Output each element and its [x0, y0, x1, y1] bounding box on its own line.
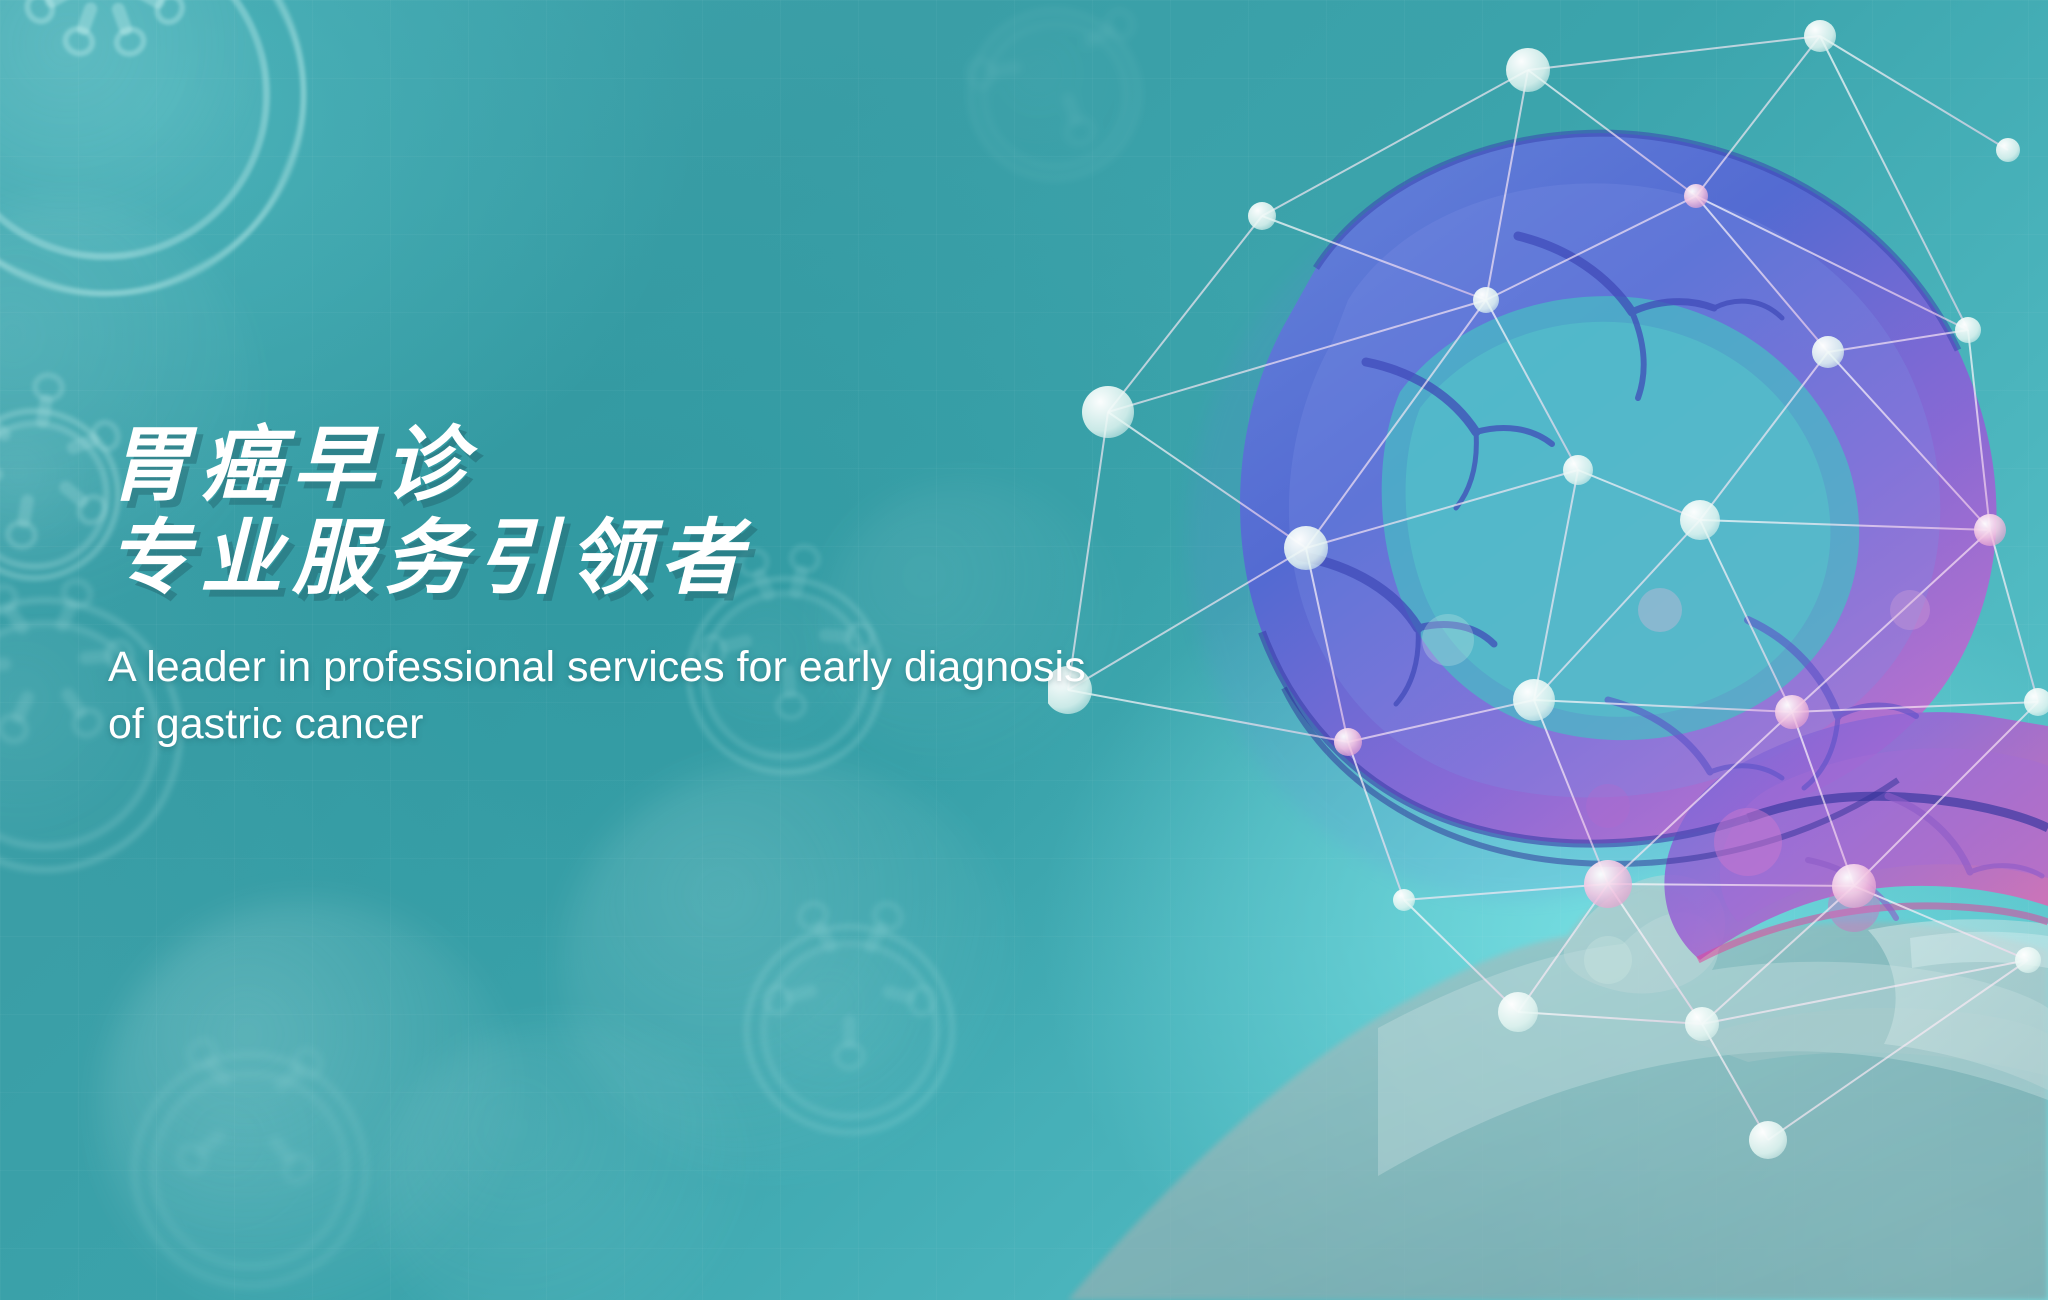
hand-illustration	[1068, 875, 2048, 1300]
subtitle-line-1: A leader in professional services for ea…	[108, 643, 892, 691]
bokeh-circle	[560, 760, 1020, 1180]
bokeh-circle	[100, 900, 520, 1300]
headline-line-2: 专业服务引领者	[108, 513, 1208, 606]
virus-watermark-icon	[0, 420, 110, 570]
virus-watermark-icon	[0, 0, 270, 260]
bokeh-circle	[380, 1020, 760, 1300]
virus-watermark-icon	[760, 940, 940, 1120]
page-subtitle: A leader in professional services for ea…	[108, 639, 1118, 753]
headline-line-1: 胃癌早诊	[108, 420, 476, 511]
copy-block: 胃癌早诊 专业服务引领者 A leader in professional se…	[108, 420, 1208, 753]
virus-watermark-icon	[150, 1070, 350, 1270]
hero-banner: 胃癌早诊 专业服务引领者 A leader in professional se…	[0, 0, 2048, 1300]
page-title: 胃癌早诊 专业服务引领者	[108, 420, 1208, 605]
